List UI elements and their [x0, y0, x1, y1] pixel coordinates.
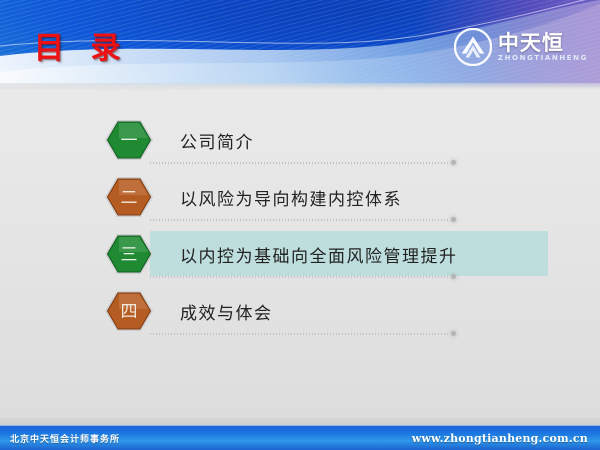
- logo-name-en: ZHONGTIANHENG: [498, 54, 588, 62]
- mountain-emblem-icon: [454, 28, 492, 66]
- item-separator-dots: [150, 276, 450, 278]
- badge-numeral-1: 一: [121, 131, 138, 151]
- list-item-label: 公司简介: [180, 112, 254, 169]
- list-item[interactable]: 三 以内控为基础向全面风险管理提升: [0, 226, 600, 283]
- list-item-label: 以内控为基础向全面风险管理提升: [180, 226, 458, 283]
- presentation-slide: 目 录 中天恒 ZHONGTIANHENG 一: [0, 0, 600, 450]
- slide-footer: 北京中天恒会计师事务所 www.zhongtianheng.com.cn: [0, 425, 600, 450]
- logo-wordmark: 中天恒 ZHONGTIANHENG: [498, 28, 588, 66]
- badge-numeral-4: 四: [121, 302, 138, 322]
- agenda-list: 一 公司简介 二 以风险为导向构建内控体系: [0, 112, 600, 340]
- item-separator-dots: [150, 219, 450, 221]
- badge-numeral-3: 三: [121, 245, 138, 265]
- badge-numeral-2: 二: [121, 188, 138, 208]
- item-separator-dots: [150, 333, 450, 335]
- badge-hexagon-3: 三: [104, 232, 154, 276]
- page-title: 目 录: [34, 34, 128, 64]
- footer-company-name: 北京中天恒会计师事务所: [10, 432, 120, 445]
- list-item[interactable]: 一 公司简介: [0, 112, 600, 169]
- badge-hexagon-4: 四: [104, 289, 154, 333]
- list-item-label: 以风险为导向构建内控体系: [180, 169, 402, 226]
- item-separator-dots: [150, 162, 450, 164]
- footer-website[interactable]: www.zhongtianheng.com.cn: [412, 432, 588, 445]
- badge-hexagon-2: 二: [104, 175, 154, 219]
- logo-name-cn: 中天恒: [498, 32, 588, 54]
- company-logo: 中天恒 ZHONGTIANHENG: [454, 24, 588, 70]
- list-item[interactable]: 四 成效与体会: [0, 283, 600, 340]
- badge-hexagon-1: 一: [104, 118, 154, 162]
- list-item-label: 成效与体会: [180, 283, 273, 340]
- header-bottom-band: [0, 83, 600, 92]
- slide-header: 目 录 中天恒 ZHONGTIANHENG: [0, 0, 600, 92]
- list-item[interactable]: 二 以风险为导向构建内控体系: [0, 169, 600, 226]
